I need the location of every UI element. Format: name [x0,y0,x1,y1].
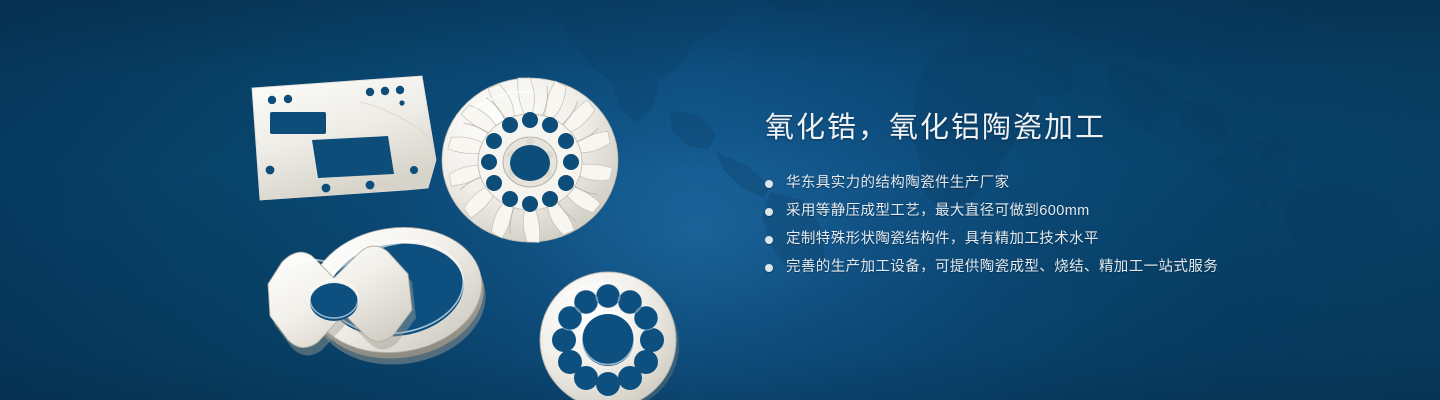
list-item-label: 采用等静压成型工艺，最大直径可做到600mm [786,202,1090,221]
page-title: 氧化锆，氧化铝陶瓷加工 [765,108,1325,148]
list-item: 华东具实力的结构陶瓷件生产厂家 [765,174,1325,193]
ceramic-vaned-impeller [442,78,618,242]
bullet-dot-icon [765,180,773,188]
ceramic-machined-plate [252,76,436,200]
list-item: 定制特殊形状陶瓷结构件，具有精加工技术水平 [765,230,1325,249]
list-item-label: 定制特殊形状陶瓷结构件，具有精加工技术水平 [786,230,1099,249]
bullet-dot-icon [765,208,773,216]
banner-copy: 氧化锆，氧化铝陶瓷加工 华东具实力的结构陶瓷件生产厂家 采用等静压成型工艺，最大… [765,108,1325,286]
hero-banner: 氧化锆，氧化铝陶瓷加工 华东具实力的结构陶瓷件生产厂家 采用等静压成型工艺，最大… [0,0,1440,400]
ceramic-perforated-ring-disc [540,272,679,400]
bullet-dot-icon [765,236,773,244]
list-item: 完善的生产加工设备，可提供陶瓷成型、烧结、精加工一站式服务 [765,258,1325,277]
list-item-label: 完善的生产加工设备，可提供陶瓷成型、烧结、精加工一站式服务 [786,258,1218,277]
product-collage [230,40,730,390]
bullet-dot-icon [765,264,773,272]
list-item-label: 华东具实力的结构陶瓷件生产厂家 [786,174,1010,193]
feature-list: 华东具实力的结构陶瓷件生产厂家 采用等静压成型工艺，最大直径可做到600mm 定… [765,174,1325,277]
list-item: 采用等静压成型工艺，最大直径可做到600mm [765,202,1325,221]
